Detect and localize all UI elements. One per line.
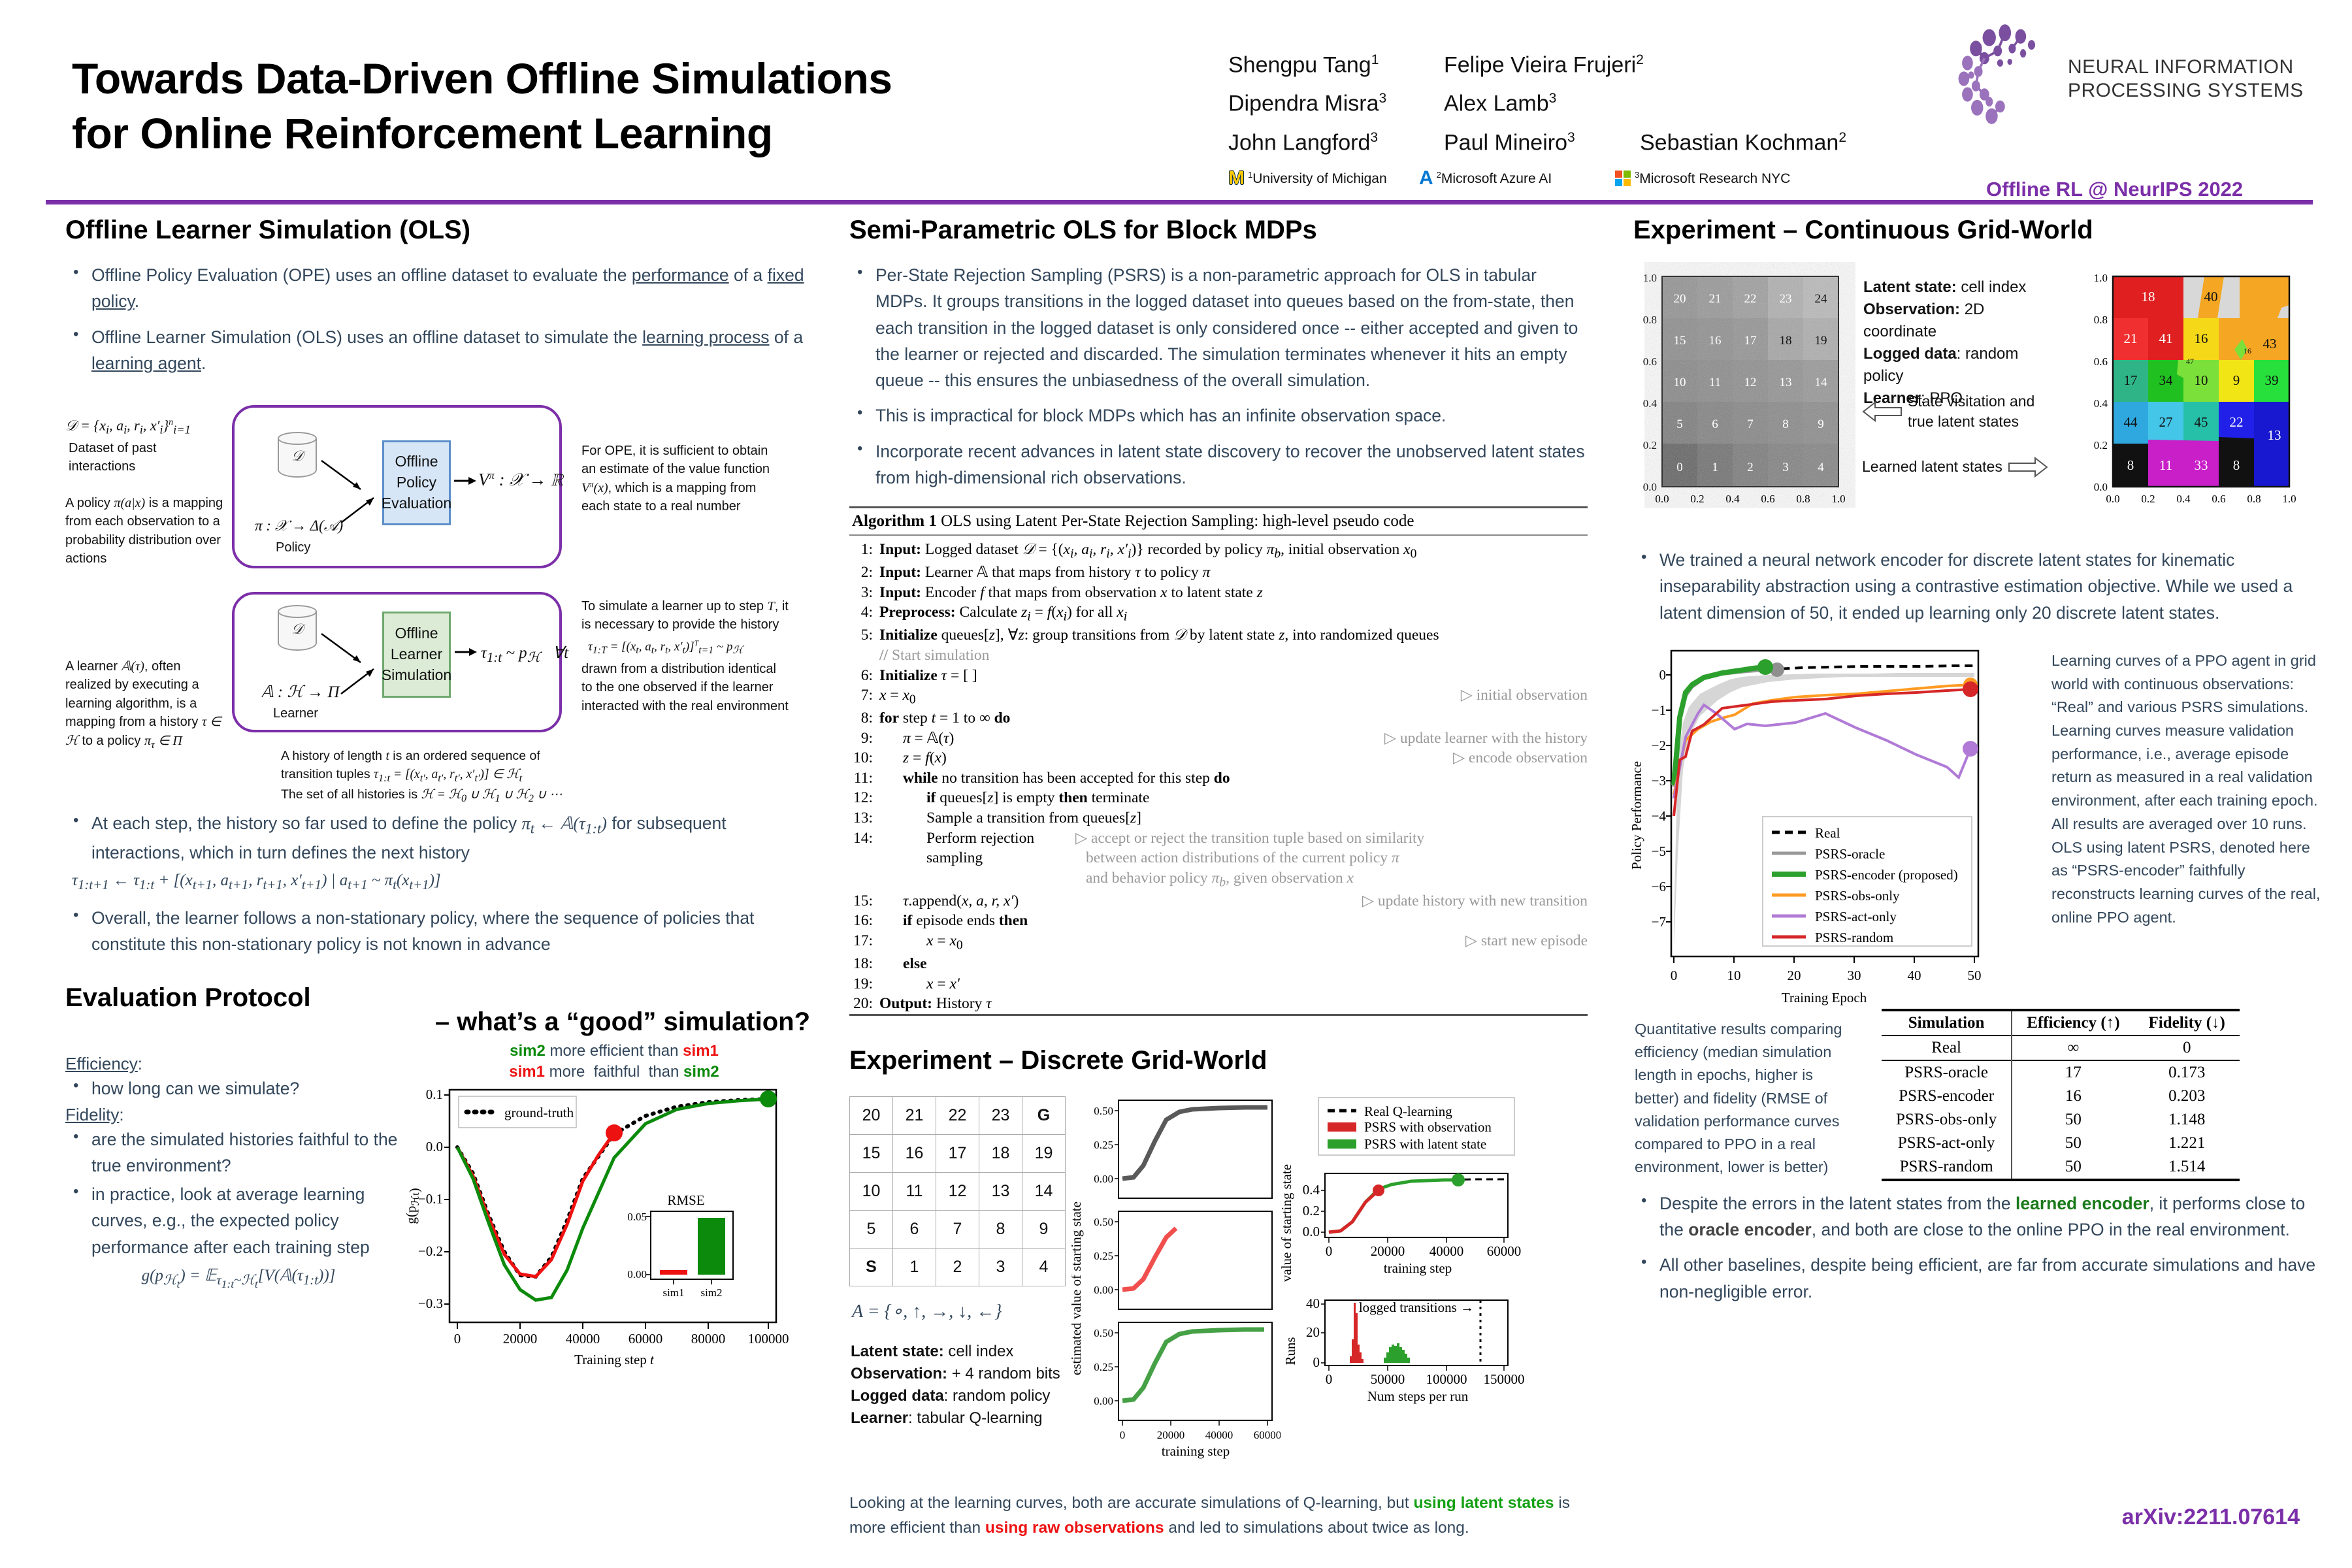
- discrete-grid-world-table: 20212223G 1516171819 1011121314 56789 S1…: [849, 1096, 1066, 1286]
- arrow-dataset-to-box: [320, 458, 372, 497]
- dataset-caption: Dataset of past interactions: [69, 439, 225, 476]
- svg-text:40: 40: [1306, 1296, 1320, 1311]
- svg-text:40: 40: [2204, 289, 2218, 304]
- svg-text:0.6: 0.6: [2094, 355, 2108, 368]
- svg-text:0: 0: [454, 1331, 461, 1347]
- y-axis-label: g(pℋt): [403, 1188, 422, 1224]
- svg-text:0.00: 0.00: [627, 1268, 647, 1281]
- semiparam-bullets: Per-State Rejection Sampling (PSRS) is a…: [849, 262, 1588, 491]
- svg-text:0.4: 0.4: [1725, 493, 1740, 505]
- svg-text:0.6: 0.6: [2212, 493, 2225, 505]
- azure-logo: A: [1419, 169, 1433, 188]
- svg-text:0.50: 0.50: [1094, 1327, 1113, 1339]
- section-title-discrete: Experiment – Discrete Grid-World: [849, 1046, 1588, 1075]
- svg-text:60000: 60000: [1254, 1429, 1281, 1441]
- author-row: Shengpu Tang1 Felipe Vieira Frujeri2: [1228, 52, 1895, 78]
- svg-text:PSRS with observation: PSRS with observation: [1364, 1119, 1492, 1135]
- svg-text:0.4: 0.4: [1643, 397, 1658, 410]
- svg-text:20000: 20000: [1157, 1429, 1185, 1441]
- ols-note-a: To simulate a learner up to step T, it i…: [581, 597, 791, 634]
- list-item: This is impractical for block MDPs which…: [849, 402, 1588, 429]
- offline-policy-evaluation-box: OfflinePolicyEvaluation: [382, 440, 451, 525]
- table-row: PSRS-encoder160.203: [1882, 1085, 2240, 1108]
- michigan-logo: M: [1228, 169, 1245, 188]
- eval-protocol-chart: sim2 more efficient than sim1 sim1 more …: [399, 1041, 804, 1379]
- svg-text:60000: 60000: [629, 1331, 663, 1347]
- state-visitation-figure: 1.00.80.60.40.20.0: [1633, 262, 1855, 523]
- svg-text:11: 11: [2159, 457, 2172, 473]
- ols-bullets: Offline Policy Evaluation (OPE) uses an …: [65, 262, 810, 376]
- dataset-cylinder-icon: 𝒟: [278, 605, 317, 656]
- svg-text:8: 8: [2127, 457, 2134, 473]
- table-row: 56789: [850, 1210, 1066, 1248]
- arrow-policy-to-box: [340, 494, 379, 527]
- svg-text:1.0: 1.0: [1643, 272, 1657, 284]
- svg-text:60000: 60000: [1487, 1243, 1522, 1259]
- column-left: Offline Learner Simulation (OLS) Offline…: [65, 216, 810, 1394]
- neurips-swirl-icon: [1947, 18, 2068, 139]
- svg-text:1.0: 1.0: [1831, 493, 1845, 505]
- svg-text:PSRS-encoder (proposed): PSRS-encoder (proposed): [1815, 867, 1958, 883]
- svg-text:PSRS with latent state: PSRS with latent state: [1364, 1136, 1486, 1152]
- th-simulation: Simulation: [1882, 1010, 2012, 1036]
- eval-protocol-body: Efficiency: how long can we simulate? Fi…: [65, 1054, 810, 1394]
- results-table: Simulation Efficiency (↑) Fidelity (↓) R…: [1882, 1009, 2240, 1181]
- eval-criteria: Efficiency: how long can we simulate? Fi…: [65, 1054, 412, 1291]
- author-name: Alex Lamb3: [1444, 91, 1640, 116]
- svg-text:9: 9: [1818, 417, 1824, 431]
- svg-text:27: 27: [2159, 414, 2173, 430]
- sim2-endpoint-marker: [760, 1090, 777, 1107]
- arrow-box-to-output: [455, 645, 478, 659]
- svg-text:0.00: 0.00: [1094, 1284, 1113, 1296]
- author-row: Dipendra Misra3 Alex Lamb3: [1228, 91, 1895, 116]
- svg-text:22: 22: [2230, 414, 2244, 430]
- series-psrs-observation: [1329, 1190, 1379, 1232]
- svg-text:0: 0: [1120, 1429, 1126, 1441]
- svg-text:0.2: 0.2: [1643, 439, 1657, 451]
- logged-transitions-annotation: logged transitions →: [1359, 1299, 1474, 1315]
- svg-text:Real Q-learning: Real Q-learning: [1364, 1103, 1452, 1119]
- svg-text:0.0: 0.0: [1303, 1224, 1320, 1239]
- poster-root: Towards Data-Driven Offline Simulations …: [0, 0, 2352, 1568]
- svg-text:34: 34: [2159, 372, 2174, 388]
- svg-text:10: 10: [2195, 372, 2208, 388]
- page-title: Towards Data-Driven Offline Simulations …: [72, 51, 1183, 161]
- action-set-formula: A = {∘, ↑, →, ↓, ←}: [852, 1300, 1002, 1322]
- svg-text:17: 17: [1744, 334, 1757, 348]
- ols-diagram: A learner 𝔸(τ), often realized by execut…: [65, 592, 810, 808]
- svg-text:−6: −6: [1652, 879, 1666, 894]
- svg-text:−4: −4: [1652, 808, 1667, 824]
- svg-text:0.0: 0.0: [2106, 493, 2119, 505]
- svg-text:0.4: 0.4: [1303, 1182, 1320, 1198]
- rmse-inset: RMSE 0.05 0.00 sim1 sim2: [627, 1192, 733, 1299]
- svg-text:0.50: 0.50: [1094, 1105, 1113, 1117]
- svg-text:20: 20: [1788, 968, 1801, 983]
- svg-text:47: 47: [2186, 357, 2194, 366]
- svg-text:0.0: 0.0: [1643, 481, 1657, 493]
- author-name: Felipe Vieira Frujeri2: [1444, 52, 1640, 78]
- svg-text:9: 9: [2233, 372, 2240, 388]
- svg-text:training step: training step: [1384, 1260, 1452, 1276]
- svg-text:4: 4: [1818, 461, 1824, 474]
- svg-text:0.2: 0.2: [1690, 493, 1704, 505]
- ope-note: For OPE, it is sufficient to obtain an e…: [581, 442, 777, 516]
- list-item: Per-State Rejection Sampling (PSRS) is a…: [849, 262, 1588, 393]
- svg-text:−0.1: −0.1: [418, 1191, 443, 1207]
- svg-text:20000: 20000: [1371, 1243, 1405, 1259]
- series-real: [1674, 666, 1974, 784]
- svg-text:100000: 100000: [748, 1331, 789, 1347]
- affiliation-azure: A 2Microsoft Azure AI: [1419, 169, 1615, 188]
- svg-text:sim1: sim1: [662, 1286, 684, 1299]
- fidelity-label: Fidelity:: [65, 1105, 412, 1125]
- svg-text:Num steps per run: Num steps per run: [1367, 1388, 1469, 1404]
- table-row: PSRS-act-only501.221: [1882, 1132, 2240, 1155]
- results-table-caption: Quantitative results comparing efficienc…: [1635, 1018, 1850, 1179]
- table-row: PSRS-obs-only501.148: [1882, 1108, 2240, 1132]
- history-definition-note: A history of length t is an ordered sequ…: [281, 747, 621, 806]
- svg-text:22: 22: [1744, 292, 1757, 306]
- svg-text:0.25: 0.25: [1094, 1361, 1113, 1373]
- learner-note: A learner 𝔸(τ), often realized by execut…: [65, 657, 229, 752]
- list-item: Overall, the learner follows a non-stati…: [65, 905, 810, 958]
- psrs-act-only-endpoint-marker: [1963, 741, 1978, 757]
- arrow-box-to-output: [454, 474, 478, 487]
- svg-text:20000: 20000: [503, 1331, 538, 1347]
- x-axis-label: Training Epoch: [1782, 990, 1867, 1005]
- title-line-1: Towards Data-Driven Offline Simulations: [72, 51, 1183, 106]
- author-name: Paul Mineiro3: [1444, 130, 1640, 155]
- expected-performance-formula: g(pℋt) = 𝔼τ1:t~ℋt[V(𝔸(τ1:t))]: [65, 1266, 412, 1291]
- svg-text:−5: −5: [1652, 843, 1666, 859]
- column-right: Experiment – Continuous Grid-World 1.00.…: [1633, 216, 2326, 1314]
- svg-text:16: 16: [2244, 346, 2251, 355]
- affiliation-msr: 3Microsoft Research NYC: [1615, 169, 1790, 188]
- algorithm-lines: 1:Input: Logged dataset 𝒟 = {(xi, ai, ri…: [849, 540, 1588, 1013]
- svg-text:50000: 50000: [1371, 1371, 1405, 1387]
- chart-legend: Real PSRS-oracle PSRS-encoder (proposed)…: [1763, 817, 1972, 946]
- list-item: Despite the errors in the latent states …: [1633, 1190, 2326, 1243]
- author-name: John Langford3: [1228, 130, 1444, 155]
- th-efficiency: Efficiency (↑): [2012, 1010, 2134, 1036]
- header-divider: [46, 200, 2313, 204]
- svg-text:0.1: 0.1: [426, 1086, 443, 1102]
- svg-text:−7: −7: [1652, 914, 1666, 930]
- svg-text:16: 16: [1709, 334, 1722, 348]
- ols-bullets-2: At each step, the history so far used to…: [65, 810, 810, 957]
- svg-text:40000: 40000: [1429, 1243, 1464, 1259]
- svg-text:1.0: 1.0: [2094, 272, 2108, 284]
- svg-text:0: 0: [1326, 1371, 1333, 1387]
- svg-text:14: 14: [1815, 376, 1828, 389]
- svg-text:0.8: 0.8: [1643, 314, 1657, 326]
- svg-text:0.00: 0.00: [1094, 1395, 1113, 1407]
- svg-text:5: 5: [1676, 417, 1683, 431]
- table-row: 20212223G: [850, 1096, 1066, 1134]
- svg-text:training step: training step: [1162, 1443, 1230, 1459]
- svg-text:30: 30: [1848, 968, 1861, 983]
- svg-text:18: 18: [1780, 334, 1792, 348]
- author-list: Shengpu Tang1 Felipe Vieira Frujeri2 Dip…: [1228, 52, 1895, 169]
- psrs-encoder-endpoint-marker: [1757, 659, 1773, 675]
- policy-label: Policy: [276, 538, 310, 557]
- microsoft-logo: [1615, 171, 1631, 186]
- svg-text:7: 7: [1747, 417, 1754, 431]
- svg-text:43: 43: [2263, 336, 2277, 351]
- column-middle: Semi-Parametric OLS for Block MDPs Per-S…: [849, 216, 1588, 1541]
- neurips-logo-block: NEURAL INFORMATION PROCESSING SYSTEMS: [1947, 18, 2326, 139]
- svg-text:20: 20: [1306, 1324, 1320, 1340]
- svg-text:0.0: 0.0: [426, 1139, 443, 1154]
- series-psrs-obs-only: [1674, 685, 1970, 794]
- svg-text:0.50: 0.50: [1094, 1216, 1113, 1228]
- svg-text:ground-truth: ground-truth: [504, 1105, 574, 1120]
- svg-text:13: 13: [2268, 427, 2281, 443]
- svg-text:PSRS-obs-only: PSRS-obs-only: [1815, 888, 1900, 904]
- author-row: John Langford3 Paul Mineiro3 Sebastian K…: [1228, 130, 1895, 155]
- section-title-continuous: Experiment – Continuous Grid-World: [1633, 216, 2326, 245]
- svg-text:100000: 100000: [1426, 1371, 1467, 1387]
- policy-formula: π : 𝒳 → Δ(𝒜): [255, 517, 343, 534]
- svg-text:40000: 40000: [1205, 1429, 1233, 1441]
- continuous-gw-meta: Latent state: cell index Observation: 2D…: [1863, 276, 2033, 410]
- svg-text:value of starting state: value of starting state: [1281, 1164, 1294, 1281]
- svg-text:PSRS-oracle: PSRS-oracle: [1815, 846, 1885, 862]
- svg-text:39: 39: [2265, 372, 2279, 388]
- policy-performance-block: Policy Performance 0−1−2−3 −4−5−6−7: [1633, 639, 2326, 1031]
- svg-text:19: 19: [1815, 334, 1827, 348]
- psrs-random-endpoint-marker: [1963, 681, 1978, 697]
- svg-text:−0.3: −0.3: [418, 1296, 443, 1311]
- author-name: Dipendra Misra3: [1228, 91, 1444, 116]
- discrete-gw-stacked-charts: estimated value of starting state 0.500.…: [1071, 1092, 1281, 1465]
- svg-text:0: 0: [1671, 968, 1678, 983]
- svg-text:0.25: 0.25: [1094, 1139, 1113, 1151]
- svg-text:40: 40: [1908, 968, 1921, 983]
- discrete-gw-conclusion: Looking at the learning curves, both are…: [849, 1491, 1588, 1541]
- section-title-ols: Offline Learner Simulation (OLS): [65, 216, 810, 245]
- series-real-q-learning: [1329, 1179, 1504, 1232]
- list-item: Offline Learner Simulation (OLS) uses an…: [65, 324, 810, 377]
- svg-text:0.8: 0.8: [2094, 314, 2108, 326]
- svg-text:10: 10: [1674, 376, 1686, 389]
- rmse-bar-sim2: [698, 1218, 725, 1275]
- svg-text:80000: 80000: [691, 1331, 726, 1347]
- value-function-formula: Vπ : 𝒳 → ℝ: [478, 469, 563, 491]
- next-history-formula: τ1:t+1 ← τ1:t + [(xt+1, at+1, rt+1, x′t+…: [72, 868, 810, 896]
- svg-text:23: 23: [1780, 292, 1792, 306]
- svg-text:24: 24: [1815, 292, 1828, 306]
- policy-performance-caption: Learning curves of a PPO agent in grid w…: [2051, 649, 2326, 930]
- svg-text:0: 0: [1659, 667, 1667, 683]
- series-psrs-random: [1674, 689, 1970, 816]
- svg-text:0.2: 0.2: [2141, 493, 2155, 505]
- poster-header: Towards Data-Driven Offline Simulations …: [0, 0, 2352, 204]
- svg-text:16: 16: [2195, 331, 2208, 346]
- svg-text:0.2: 0.2: [1303, 1203, 1320, 1218]
- svg-text:1.0: 1.0: [2282, 493, 2296, 505]
- final-bullets: Despite the errors in the latent states …: [1633, 1190, 2326, 1305]
- venue-label: Offline RL @ NeurIPS 2022: [1986, 178, 2243, 201]
- table-row: S1234: [850, 1248, 1066, 1286]
- section-title-semiparam: Semi-Parametric OLS for Block MDPs: [849, 216, 1588, 245]
- svg-text:1: 1: [1712, 461, 1718, 474]
- history-output-formula: τ1:t ~ pℋ ∀t: [481, 643, 568, 666]
- th-fidelity: Fidelity (↓): [2134, 1010, 2240, 1036]
- svg-text:0.05: 0.05: [627, 1211, 647, 1223]
- arrow-right-icon: [2008, 455, 2048, 479]
- svg-text:12: 12: [1744, 376, 1757, 389]
- svg-text:6: 6: [1712, 417, 1718, 431]
- discrete-gw-right-charts: Real Q-learning PSRS with observation PS…: [1281, 1092, 1588, 1484]
- author-name: Shengpu Tang1: [1228, 52, 1444, 78]
- table-row: 1011121314: [850, 1172, 1066, 1210]
- svg-text:50: 50: [1968, 968, 1982, 983]
- dataset-cylinder-icon: 𝒟: [278, 432, 317, 483]
- svg-text:PSRS-random: PSRS-random: [1815, 930, 1893, 945]
- svg-text:33: 33: [2195, 457, 2208, 473]
- continuous-gw-figures: 1.00.80.60.40.20.0: [1633, 262, 2326, 543]
- svg-text:21: 21: [1709, 292, 1722, 306]
- chart-legend: Real Q-learning PSRS with observation PS…: [1318, 1098, 1514, 1155]
- list-item: At each step, the history so far used to…: [65, 810, 810, 896]
- svg-text:0.0: 0.0: [2094, 481, 2108, 493]
- policy-note: A policy π(a|x) is a mapping from each o…: [65, 494, 229, 568]
- table-row: PSRS-oracle170.173: [1882, 1060, 2240, 1085]
- svg-text:21: 21: [2124, 331, 2138, 346]
- learned-latent-state-figure: 1.00.80.60.40.20.0: [2084, 262, 2326, 523]
- ols-note-b: drawn from a distribution identical to t…: [581, 660, 791, 715]
- dataset-formula: 𝒟 = {xi, ai, ri, x′i}ni=1: [65, 417, 191, 437]
- continuous-gw-policy-performance-chart: Policy Performance 0−1−2−3 −4−5−6−7: [1624, 639, 2042, 1024]
- list-item: Offline Policy Evaluation (OPE) uses an …: [65, 262, 810, 315]
- title-line-2: for Online Reinforcement Learning: [72, 106, 1183, 161]
- efficiency-items: how long can we simulate?: [65, 1075, 412, 1102]
- svg-text:20: 20: [1674, 292, 1686, 306]
- svg-text:0.8: 0.8: [1796, 493, 1810, 505]
- affiliation-list: M 1University of Michigan A 2Microsoft A…: [1228, 169, 1790, 188]
- svg-text:0.6: 0.6: [1761, 493, 1774, 505]
- svg-text:0.0: 0.0: [1655, 493, 1669, 505]
- svg-text:11: 11: [1709, 376, 1721, 389]
- svg-text:−0.2: −0.2: [418, 1243, 443, 1259]
- list-item: All other baselines, despite being effic…: [1633, 1252, 2326, 1305]
- svg-text:−1: −1: [1652, 702, 1666, 718]
- list-item: in practice, look at average learning cu…: [65, 1181, 412, 1260]
- svg-text:0: 0: [1313, 1354, 1320, 1370]
- svg-text:0.6: 0.6: [1643, 355, 1657, 368]
- svg-text:sim2: sim2: [700, 1286, 722, 1299]
- svg-text:10: 10: [1727, 968, 1741, 983]
- history-formula: τ1:T = [(xt, at, rt, x′t)]Tt=1 ~ pℋ: [588, 639, 743, 657]
- list-item: We trained a neural network encoder for …: [1633, 547, 2326, 626]
- svg-text:45: 45: [2195, 414, 2208, 430]
- state-visitation-annotation: State visitation andtrue latent states: [1862, 391, 2034, 432]
- svg-text:15: 15: [1674, 334, 1686, 348]
- table-row: Real∞0: [1882, 1036, 2240, 1060]
- discrete-gw-body: 20212223G 1516171819 1011121314 56789 S1…: [849, 1092, 1588, 1497]
- learner-label: Learner: [273, 704, 318, 723]
- psrs-latent-endpoint-marker: [1452, 1173, 1465, 1186]
- neurips-wordmark: NEURAL INFORMATION PROCESSING SYSTEMS: [2068, 56, 2304, 102]
- learned-latent-annotation: Learned latent states: [1862, 455, 2048, 479]
- svg-text:0.8: 0.8: [2247, 493, 2261, 505]
- discrete-gw-meta: Latent state: cell index Observation: + …: [851, 1341, 1066, 1429]
- y-axis-label: Policy Performance: [1629, 761, 1644, 870]
- efficiency-label: Efficiency:: [65, 1054, 412, 1074]
- svg-text:44: 44: [2124, 414, 2138, 430]
- author-name: Sebastian Kochman2: [1640, 130, 1846, 155]
- svg-text:2: 2: [1747, 461, 1754, 474]
- algorithm-title: Algorithm 1 OLS using Latent Per-State R…: [849, 508, 1588, 534]
- results-table-block: Quantitative results comparing efficienc…: [1633, 1009, 2326, 1205]
- algorithm-box: Algorithm 1 OLS using Latent Per-State R…: [849, 506, 1588, 1015]
- eval-chart-svg: 0.10.0 −0.1−0.2−0.3 0: [399, 1082, 804, 1376]
- arrow-dataset-to-box: [320, 631, 372, 670]
- svg-text:40000: 40000: [566, 1331, 600, 1347]
- arrow-learner-to-box: [340, 665, 379, 698]
- offline-learner-simulation-box: OfflineLearnerSimulation: [382, 612, 451, 698]
- svg-text:−3: −3: [1652, 773, 1666, 789]
- svg-text:−2: −2: [1652, 738, 1666, 753]
- svg-text:150000: 150000: [1484, 1371, 1525, 1387]
- rmse-bar-sim1: [660, 1270, 687, 1275]
- chart-caption: sim2 more efficient than sim1 sim1 more …: [425, 1041, 804, 1081]
- svg-text:RMSE: RMSE: [667, 1192, 704, 1208]
- fidelity-items: are the simulated histories faithful to …: [65, 1126, 412, 1260]
- list-item: Incorporate recent advances in latent st…: [849, 438, 1588, 491]
- sim1-endpoint-marker: [606, 1124, 623, 1141]
- svg-text:0.4: 0.4: [2176, 493, 2191, 505]
- encoder-bullets: We trained a neural network encoder for …: [1633, 547, 2326, 626]
- psrs-obs-endpoint-marker: [1373, 1184, 1384, 1196]
- svg-text:estimated value of starting st: estimated value of starting state: [1071, 1201, 1084, 1375]
- svg-text:0.4: 0.4: [2094, 397, 2108, 410]
- table-row: 1516171819: [850, 1134, 1066, 1172]
- svg-text:0: 0: [1326, 1243, 1333, 1259]
- hist-psrs-latent: [1384, 1343, 1410, 1363]
- x-axis-label: Training step t: [574, 1352, 655, 1367]
- svg-text:18: 18: [2142, 289, 2155, 304]
- arrow-left-icon: [1862, 400, 1903, 423]
- svg-text:PSRS-act-only: PSRS-act-only: [1815, 909, 1897, 924]
- svg-text:41: 41: [2159, 331, 2173, 346]
- svg-text:0: 0: [1676, 461, 1683, 474]
- affiliation-michigan: M 1University of Michigan: [1228, 169, 1419, 188]
- svg-text:17: 17: [2124, 372, 2138, 388]
- learner-formula: 𝔸 : ℋ → Π: [261, 682, 340, 702]
- svg-text:8: 8: [1782, 417, 1789, 431]
- svg-text:13: 13: [1780, 376, 1792, 389]
- svg-text:0.25: 0.25: [1094, 1250, 1113, 1262]
- table-header-row: Simulation Efficiency (↑) Fidelity (↓): [1882, 1010, 2240, 1036]
- list-item: are the simulated histories faithful to …: [65, 1126, 412, 1179]
- table-row: PSRS-random501.514: [1882, 1155, 2240, 1180]
- list-item: how long can we simulate?: [65, 1075, 412, 1102]
- ope-diagram: 𝒟 = {xi, ai, ri, x′i}ni=1 Dataset of pas…: [65, 396, 810, 592]
- svg-text:0.00: 0.00: [1094, 1173, 1113, 1185]
- svg-text:3: 3: [1782, 461, 1789, 474]
- arxiv-id: arXiv:2211.07614: [2122, 1505, 2300, 1530]
- svg-text:Real: Real: [1815, 825, 1840, 841]
- svg-text:8: 8: [2233, 457, 2240, 473]
- svg-text:0.2: 0.2: [2094, 439, 2108, 451]
- chart-legend: ground-truth: [459, 1096, 576, 1128]
- svg-text:Runs: Runs: [1282, 1337, 1298, 1365]
